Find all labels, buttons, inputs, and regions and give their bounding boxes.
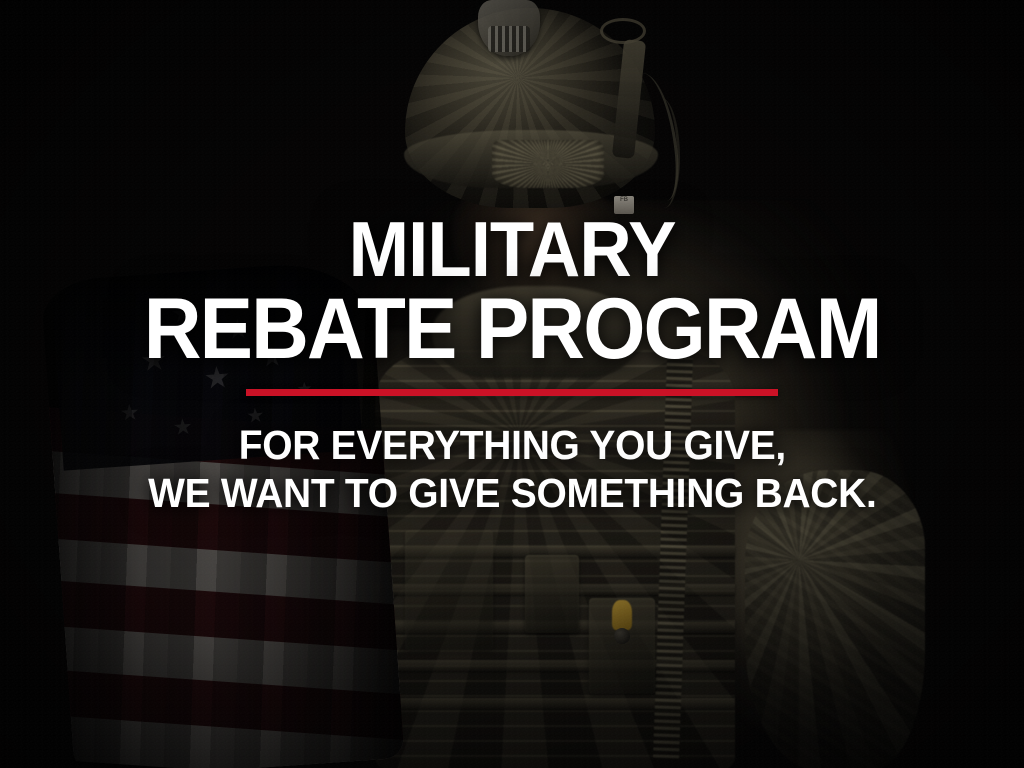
slide-canvas: FB ★ ★ ★ ★ ★ ★ ★ ★ ★ (0, 0, 1024, 768)
headline-line-1: MILITARY (144, 212, 881, 288)
headline-block: MILITARY REBATE PROGRAM (144, 212, 881, 371)
red-divider-rule (246, 389, 778, 396)
headline-line-2: REBATE PROGRAM (144, 288, 881, 371)
text-overlay: MILITARY REBATE PROGRAM FOR EVERYTHING Y… (0, 0, 1024, 768)
subheadline-line-2: WE WANT TO GIVE SOMETHING BACK. (148, 470, 876, 518)
subheadline-block: FOR EVERYTHING YOU GIVE, WE WANT TO GIVE… (148, 422, 876, 517)
subheadline-line-1: FOR EVERYTHING YOU GIVE, (148, 422, 876, 470)
